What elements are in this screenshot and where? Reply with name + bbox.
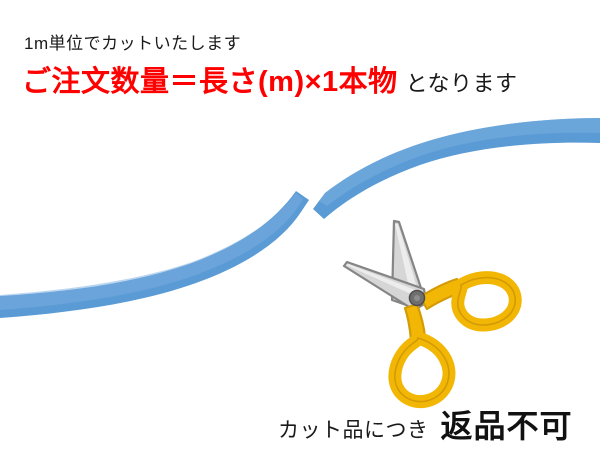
footer-note: カット品につき返品不可: [278, 410, 573, 442]
headline-line-1: 1m単位でカットいたします: [24, 29, 241, 54]
headline-line-2: ご注文数量＝長さ(m)×1本物となります: [22, 68, 518, 97]
footer-note-large: 返品不可: [441, 408, 573, 444]
blue-cable-right-segment: [313, 118, 600, 219]
scissors-pivot-screw-inner: [414, 295, 420, 301]
scissors-icon: [344, 221, 515, 402]
headline-formula-red: ご注文数量＝長さ(m)×1本物: [22, 66, 398, 98]
scissors-handle-lower-ring: [395, 338, 449, 402]
footer-note-small: カット品につき: [278, 419, 429, 442]
blue-cable-right-highlight: [319, 118, 600, 206]
headline-suffix-black: となります: [406, 71, 518, 96]
promo-banner: 1m単位でカットいたします ご注文数量＝長さ(m)×1本物となります カット品に…: [0, 0, 600, 466]
